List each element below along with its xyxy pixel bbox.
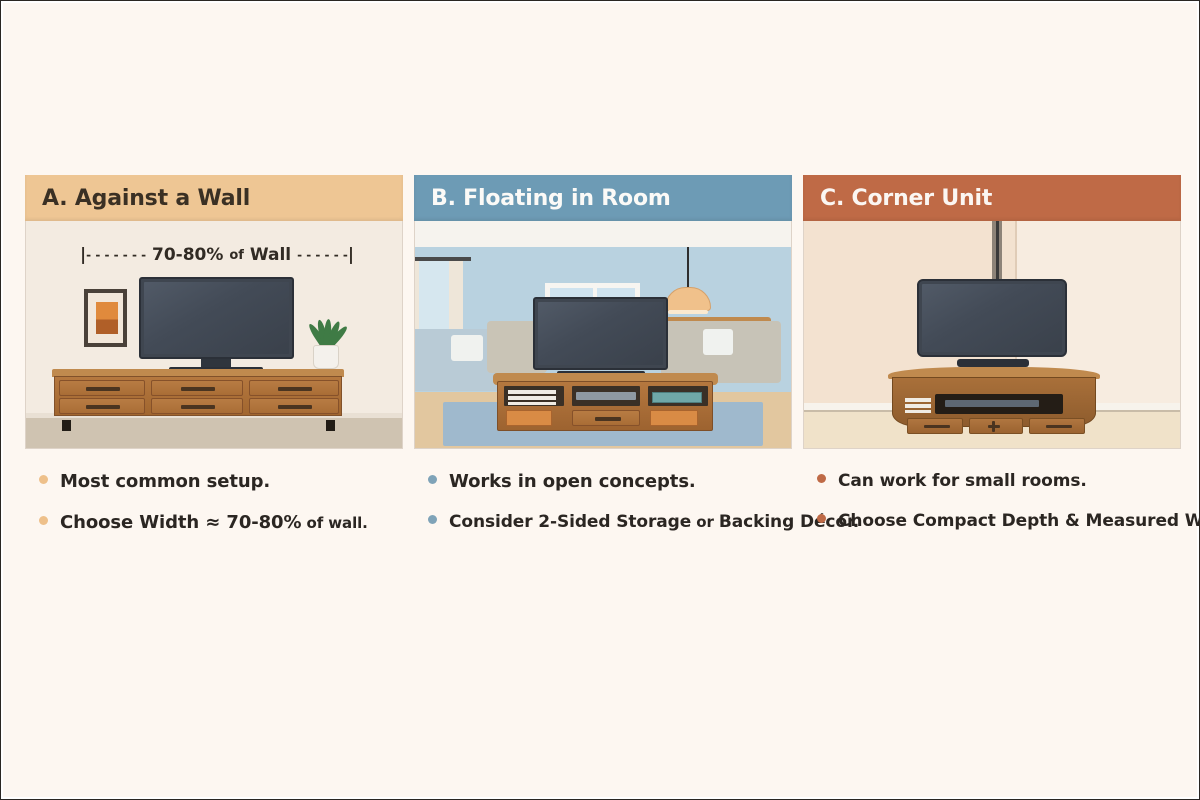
dim-unit: Wall: [250, 245, 291, 265]
tv-screen: [538, 302, 663, 365]
bullet-item: Choose Width ≈ 70-80% of wall.: [39, 512, 399, 533]
panel-corner-unit: C. Corner Unit: [803, 175, 1181, 553]
dim-right-dashes: - - - - - -: [297, 248, 348, 262]
potted-plant-icon: [307, 309, 345, 369]
ceiling-surface: [415, 221, 791, 247]
console-leg: [62, 420, 71, 431]
television: [917, 279, 1067, 357]
bullet-text: Choose Compact Depth & Measured Width.: [838, 511, 1200, 531]
panel-row: A. Against a Wall | - - - - - - - 70-80%…: [25, 175, 1181, 553]
tv-corner-unit-illustration: [803, 221, 1181, 449]
bullet-dot-icon: [39, 475, 48, 484]
curtain-rod: [415, 257, 471, 261]
console-leg: [326, 420, 335, 431]
pendant-cord: [687, 247, 689, 289]
panel-c-bullets: Can work for small rooms. Choose Compact…: [803, 449, 1181, 531]
panel-a-header: A. Against a Wall: [25, 175, 403, 221]
television: [533, 297, 668, 370]
bullet-item: Consider 2-Sided Storage or Backing Déco…: [428, 512, 788, 532]
bullet-text: Most common setup.: [60, 471, 270, 492]
panel-c-header: C. Corner Unit: [803, 175, 1181, 221]
bullet-dot-icon: [39, 516, 48, 525]
panel-against-a-wall: A. Against a Wall | - - - - - - - 70-80%…: [25, 175, 403, 553]
bullet-text: Consider 2-Sided Storage or Backing Déco…: [449, 512, 859, 532]
tv-against-wall-illustration: | - - - - - - - 70-80% of Wall - - - - -…: [25, 221, 403, 449]
panel-a-bullets: Most common setup. Choose Width ≈ 70-80%…: [25, 449, 403, 533]
lamp-glow: [668, 310, 708, 314]
bullet-dot-icon: [428, 515, 437, 524]
dim-value: 70-80%: [152, 245, 223, 265]
dim-right-tick: |: [348, 245, 354, 265]
corner-media-unit: [888, 367, 1100, 431]
soundbar: [957, 359, 1029, 367]
panel-c-title: C. Corner Unit: [820, 186, 992, 211]
tv-floating-in-room-illustration: [414, 221, 792, 449]
bullet-dot-icon: [428, 475, 437, 484]
tv-screen: [922, 284, 1062, 352]
television: [139, 277, 294, 359]
bullet-text: Can work for small rooms.: [838, 471, 1087, 491]
dim-left-dashes: - - - - - - -: [86, 248, 146, 262]
panel-b-header: B. Floating in Room: [414, 175, 792, 221]
media-console: [497, 381, 713, 431]
panel-b-bullets: Works in open concepts. Consider 2-Sided…: [414, 449, 792, 532]
bullet-text: Works in open concepts.: [449, 471, 696, 492]
dim-unit-prefix: of: [229, 248, 244, 263]
bullet-dot-icon: [817, 474, 826, 483]
bullet-text: Choose Width ≈ 70-80% of wall.: [60, 512, 368, 533]
media-console: [52, 369, 344, 421]
wall-width-annotation: | - - - - - - - 70-80% of Wall - - - - -…: [72, 243, 362, 267]
bullet-item: Can work for small rooms.: [817, 471, 1177, 491]
panel-a-title: A. Against a Wall: [42, 186, 250, 211]
panel-floating-in-room: B. Floating in Room: [414, 175, 792, 553]
infographic-page: A. Against a Wall | - - - - - - - 70-80%…: [0, 0, 1200, 800]
framed-art-icon: [84, 289, 127, 347]
bullet-dot-icon: [817, 514, 826, 523]
bullet-item: Most common setup.: [39, 471, 399, 492]
bullet-item: Choose Compact Depth & Measured Width.: [817, 511, 1177, 531]
panel-b-title: B. Floating in Room: [431, 186, 671, 211]
bullet-item: Works in open concepts.: [428, 471, 788, 492]
tv-screen: [144, 282, 289, 354]
